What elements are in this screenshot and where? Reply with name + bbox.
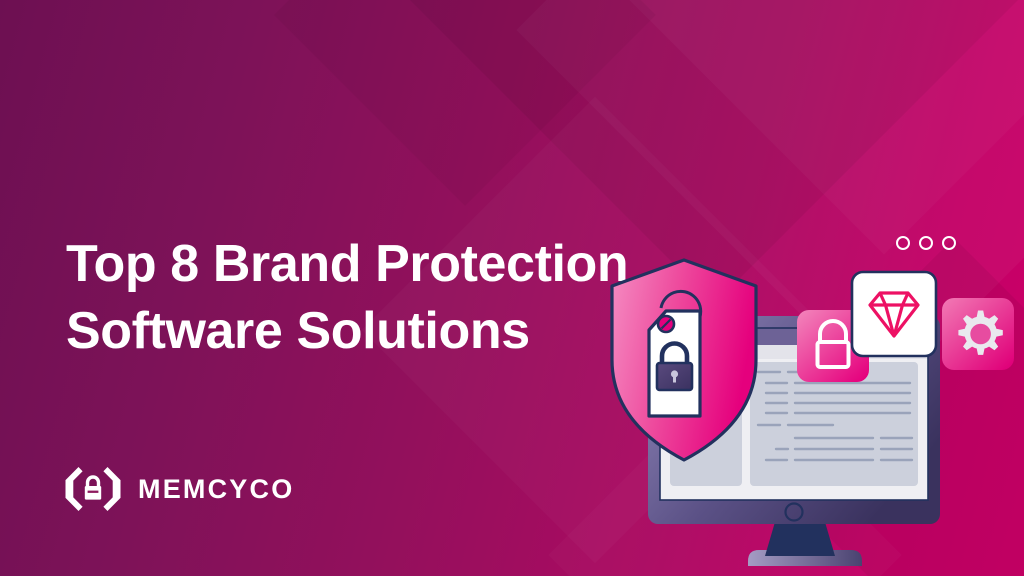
dot-icon: [896, 236, 910, 250]
diamond-card: [852, 272, 936, 356]
three-dots-icon: [896, 236, 956, 250]
banner-root: Top 8 Brand Protection Software Solution…: [0, 0, 1024, 576]
gear-card: [942, 298, 1014, 370]
dot-icon: [942, 236, 956, 250]
brand-logo[interactable]: MEMCYCO: [64, 463, 294, 515]
brand-protection-illustration: [580, 250, 1024, 576]
brand-wordmark: MEMCYCO: [138, 474, 294, 505]
lock-in-chevrons-icon: [64, 463, 122, 515]
dot-icon: [919, 236, 933, 250]
